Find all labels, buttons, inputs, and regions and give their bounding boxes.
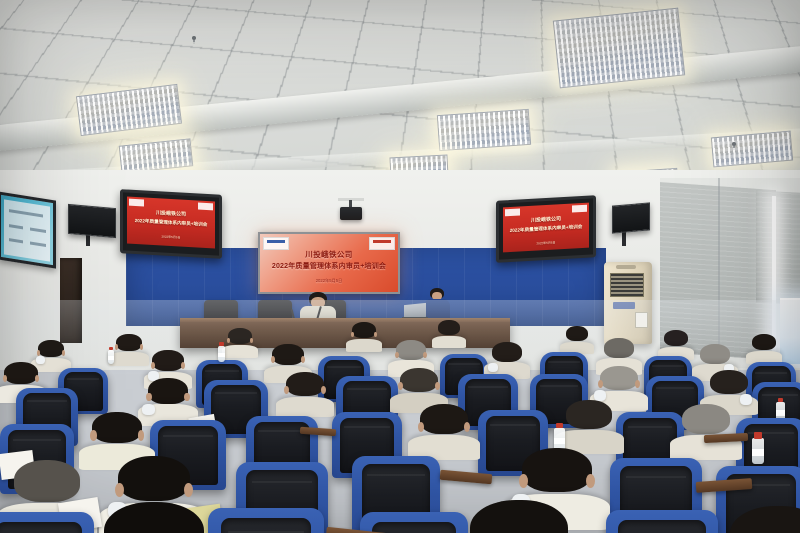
auditorium-chair[interactable] <box>360 512 468 533</box>
water-bottle[interactable] <box>108 350 114 364</box>
tv-left-logo-left <box>129 199 144 207</box>
tv-right-logo-left <box>505 208 520 216</box>
face-mask <box>142 404 155 415</box>
wall-speaker-right <box>612 202 650 233</box>
tv-right-logo-right <box>572 205 587 213</box>
tv-left-logo-right <box>198 203 213 211</box>
face-mask <box>740 394 752 405</box>
attendee <box>752 334 776 362</box>
attendee <box>148 378 188 422</box>
sprinkler-head <box>192 36 196 40</box>
attendee <box>420 404 468 456</box>
screen-date: 2022年5月5日 <box>260 278 398 284</box>
tv-left-subtitle: 2022年质量管理体系内审员+培训会 <box>127 218 215 229</box>
conference-room-photo: 川投峨铁公司 2022年质量管理体系内审员+培训会 2022年5月5日 川投峨铁… <box>0 0 800 533</box>
ac-brand-logo <box>613 302 635 309</box>
attendee <box>352 322 376 350</box>
attendee <box>566 400 612 450</box>
tv-right-date: 2022年5月5日 <box>503 239 589 248</box>
attendee <box>286 372 324 414</box>
attendee-grey-hair <box>396 340 426 360</box>
attendee <box>566 326 588 352</box>
tv-left-screen: 川投峨铁公司 2022年质量管理体系内审员+培训会 2022年5月5日 <box>127 197 215 249</box>
attendee <box>104 502 204 533</box>
auditorium-chair[interactable] <box>208 508 324 533</box>
attendee <box>116 334 142 364</box>
attendee <box>38 340 64 370</box>
ceiling-light-panel <box>553 8 685 89</box>
notice-board-surface <box>4 199 50 261</box>
ceiling-projector <box>340 207 362 220</box>
attendee-grey-hair <box>604 338 634 358</box>
auditorium-chair[interactable] <box>0 512 94 533</box>
wall-speaker-left <box>68 204 116 238</box>
roller-blind[interactable] <box>756 190 800 305</box>
wall-tv-left: 川投峨铁公司 2022年质量管理体系内审员+培训会 2022年5月5日 <box>120 189 222 259</box>
water-bottle[interactable] <box>752 438 764 464</box>
sprinkler-head <box>732 142 736 146</box>
wall-tv-right: 川投峨铁公司 2022年质量管理体系内审员+培训会 2022年5月5日 <box>496 195 596 263</box>
tv-right-subtitle: 2022年质量管理体系内审员+培训会 <box>503 224 589 235</box>
tv-left-date: 2022年5月5日 <box>127 233 215 242</box>
ac-top-vent <box>616 265 636 269</box>
audience-seating-area <box>0 316 800 533</box>
attendee <box>438 320 460 346</box>
ceiling-light-panel <box>437 109 531 151</box>
attendee-head <box>38 340 64 357</box>
wall-notice-board <box>0 191 56 268</box>
main-projection-screen: 川投峨铁公司 2022年质量管理体系内审员+培训会 2022年5月5日 <box>258 232 400 294</box>
attendee <box>664 330 688 358</box>
water-bottle[interactable] <box>218 346 225 362</box>
attendee <box>682 404 730 456</box>
attendee <box>730 506 800 533</box>
tv-right-screen: 川投峨铁公司 2022年质量管理体系内审员+培训会 2022年5月5日 <box>503 203 589 253</box>
attendee <box>228 328 252 356</box>
ac-grille <box>610 273 644 297</box>
face-mask <box>488 363 498 372</box>
attendee <box>470 500 568 533</box>
screen-subtitle: 2022年质量管理体系内审员+培训会 <box>260 261 398 271</box>
auditorium-chair[interactable] <box>606 510 718 533</box>
screen-title: 川投峨铁公司 <box>260 249 398 260</box>
